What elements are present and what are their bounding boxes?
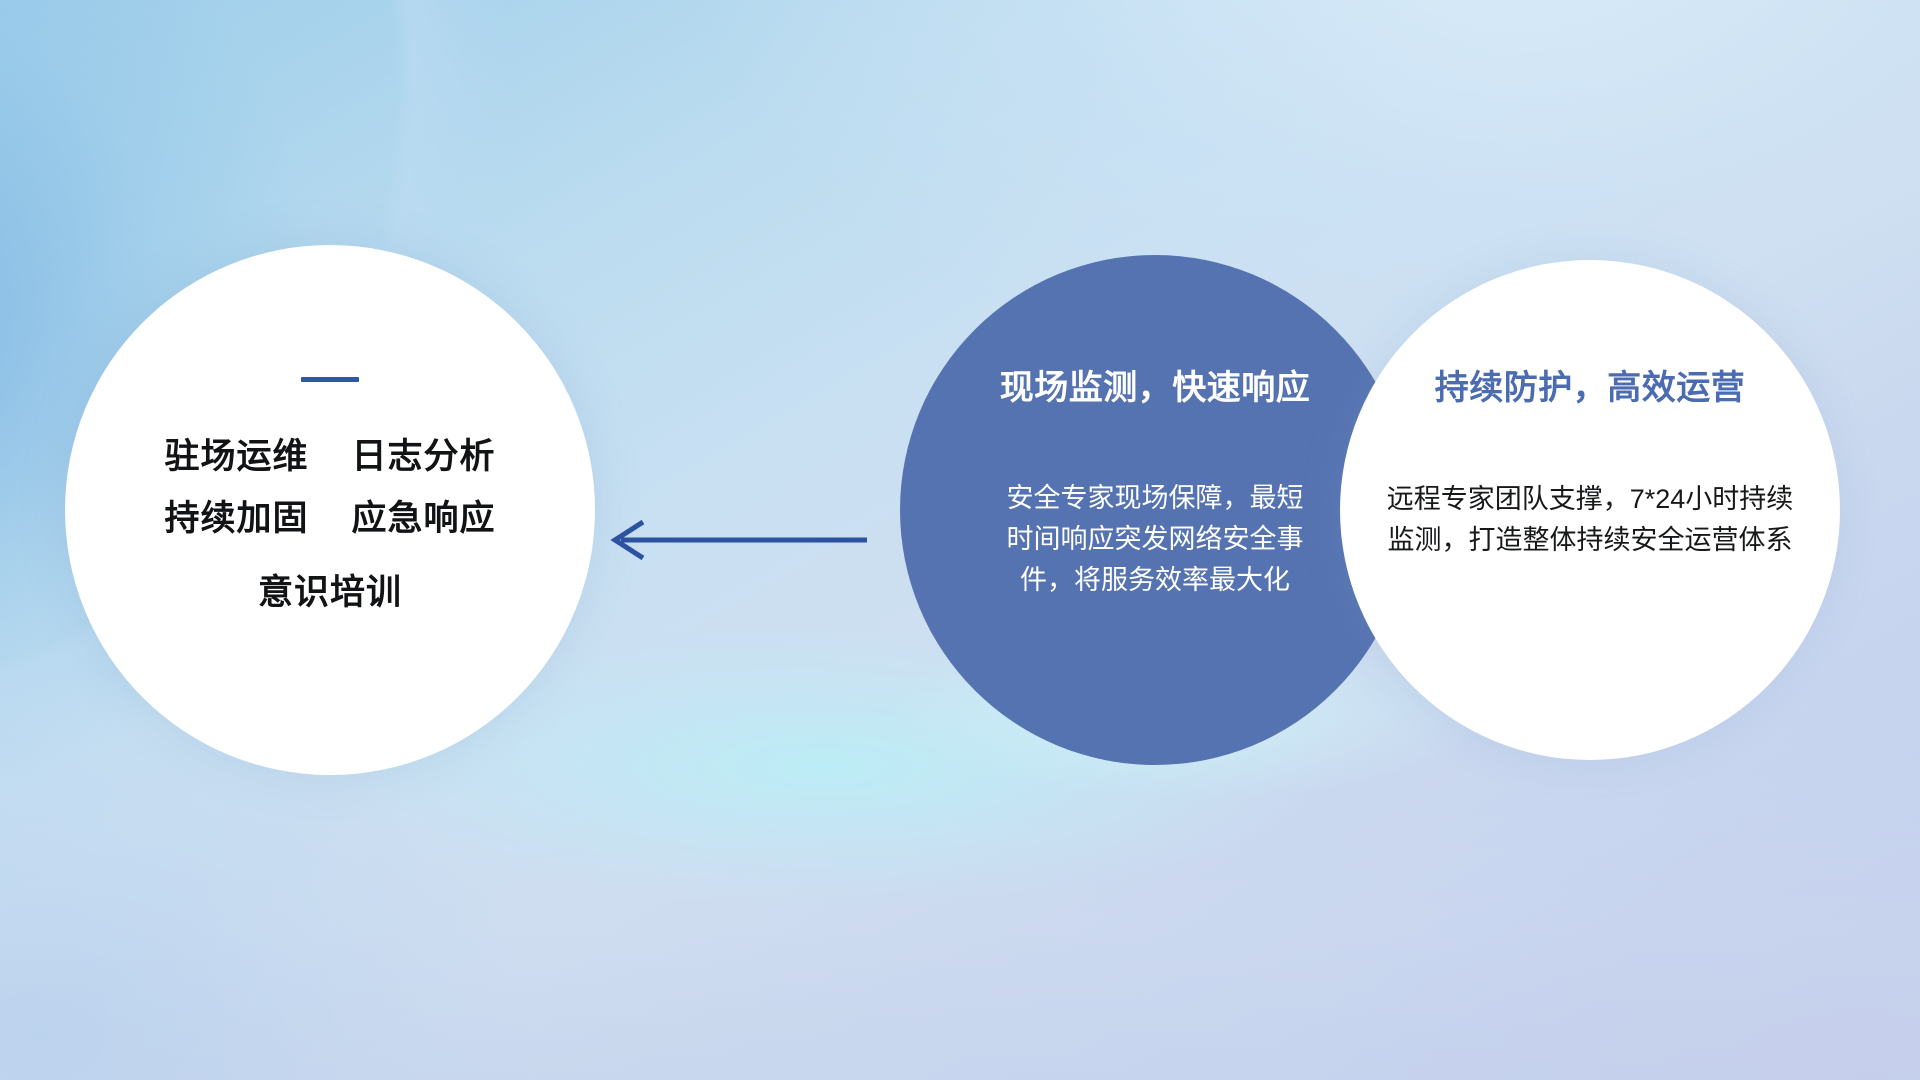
left-service-line-3: 意识培训 xyxy=(258,574,402,611)
middle-circle-heading: 现场监测，快速响应 xyxy=(1000,360,1311,409)
left-service-line-1: 驻场运维 日志分析 xyxy=(165,438,496,475)
right-circle-body: 远程专家团队支撑，7*24小时持续监测，打造整体持续安全运营体系 xyxy=(1380,479,1800,561)
left-circle-content: 驻场运维 日志分析 持续加固 应急响应 意识培训 xyxy=(65,245,595,775)
left-service-line-2: 持续加固 应急响应 xyxy=(165,500,496,537)
slide-canvas: 驻场运维 日志分析 持续加固 应急响应 意识培训 现场监测，快速响应 安全专家现… xyxy=(0,0,1920,1080)
middle-circle-content: 现场监测，快速响应 安全专家现场保障，最短时间响应突发网络安全事件，将服务效率最… xyxy=(900,255,1410,765)
right-circle-heading: 持续防护，高效运营 xyxy=(1435,360,1746,409)
left-arrow-icon xyxy=(595,505,875,575)
middle-circle-body: 安全专家现场保障，最短时间响应突发网络安全事件，将服务效率最大化 xyxy=(1005,478,1305,601)
divider-dash xyxy=(301,377,359,382)
right-circle-content: 持续防护，高效运营 远程专家团队支撑，7*24小时持续监测，打造整体持续安全运营… xyxy=(1340,260,1840,760)
